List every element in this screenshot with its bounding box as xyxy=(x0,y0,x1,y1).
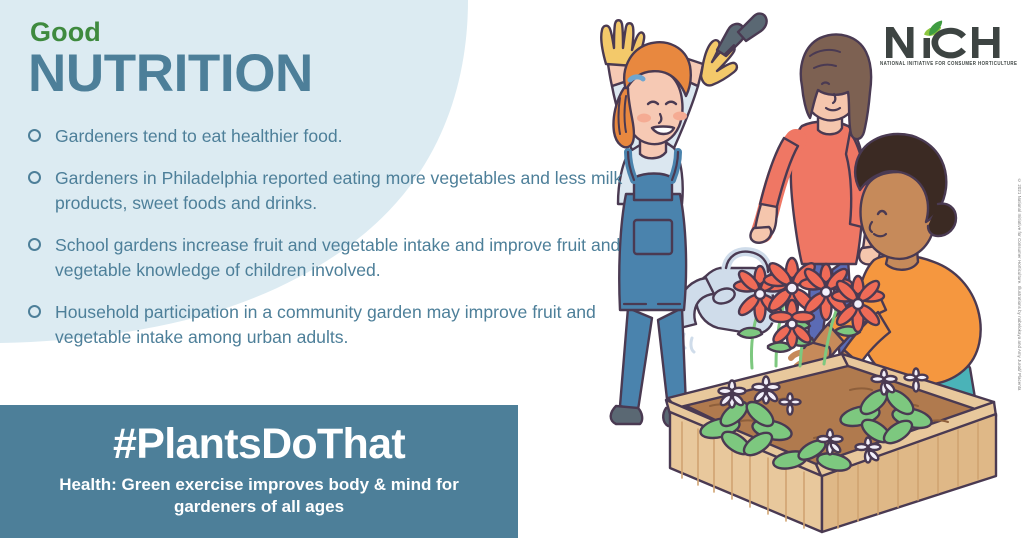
heading-headline: NUTRITION xyxy=(28,47,313,100)
list-item-text: Gardeners in Philadelphia reported eatin… xyxy=(55,168,622,213)
copyright-credit: © 2021 National Initiative for Consumer … xyxy=(1017,178,1022,391)
campaign-subtitle: Health: Green exercise improves body & m… xyxy=(24,474,494,518)
ring-bullet-icon xyxy=(28,238,41,251)
campaign-hashtag: #PlantsDoThat xyxy=(113,422,405,467)
illustration-three-gardeners xyxy=(586,8,1006,538)
list-item: Gardeners tend to eat healthier food. xyxy=(24,124,624,149)
ring-bullet-icon xyxy=(28,305,41,318)
list-item-text: School gardens increase fruit and vegeta… xyxy=(55,235,620,280)
list-item: Household participation in a community g… xyxy=(24,300,624,350)
heading-kicker: Good xyxy=(30,18,313,46)
nich-wordmark xyxy=(880,14,1006,60)
ring-bullet-icon xyxy=(28,171,41,184)
fact-list: Gardeners tend to eat healthier food. Ga… xyxy=(24,124,624,350)
list-item-text: Gardeners tend to eat healthier food. xyxy=(55,126,343,146)
list-item: School gardens increase fruit and vegeta… xyxy=(24,233,624,283)
nich-tagline: NATIONAL INITIATIVE FOR CONSUMER HORTICU… xyxy=(880,61,1006,67)
list-item: Gardeners in Philadelphia reported eatin… xyxy=(24,166,624,216)
page-title: Good NUTRITION xyxy=(28,18,313,100)
figure-girl-cheering xyxy=(601,14,766,426)
ring-bullet-icon xyxy=(28,129,41,142)
poster-root: Good NUTRITION Gardeners tend to eat hea… xyxy=(0,0,1024,538)
nich-logo: NATIONAL INITIATIVE FOR CONSUMER HORTICU… xyxy=(880,14,1006,66)
campaign-banner: #PlantsDoThat Health: Green exercise imp… xyxy=(0,405,518,538)
list-item-text: Household participation in a community g… xyxy=(55,302,596,347)
